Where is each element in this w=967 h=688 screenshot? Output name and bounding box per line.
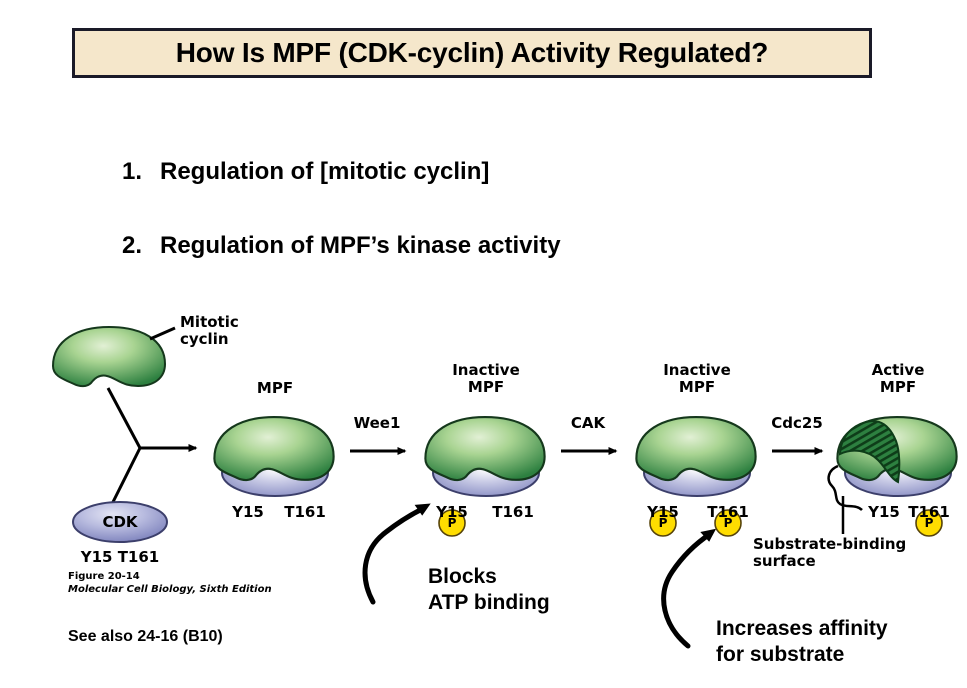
cyclin-leader-line bbox=[150, 328, 175, 339]
see-also-note: See also 24-16 (B10) bbox=[68, 628, 223, 646]
complex-2-title: Inactive MPF bbox=[452, 362, 520, 396]
enzyme-label-cdc25: Cdc25 bbox=[771, 414, 823, 432]
figure-number: Figure 20-14 bbox=[68, 570, 272, 583]
arrow-increases-affinity bbox=[664, 534, 710, 646]
phosphate-glyph-2: P bbox=[659, 516, 668, 530]
cdk-sites-label: Y15 T161 bbox=[81, 548, 160, 566]
mitotic-cyclin-shape bbox=[53, 327, 165, 386]
annotation-increases-affinity: Increases affinity for substrate bbox=[716, 616, 888, 668]
complex-4-title: Active MPF bbox=[872, 362, 925, 396]
figure-credit: Figure 20-14 Molecular Cell Biology, Six… bbox=[68, 570, 272, 596]
complex-1-title: MPF bbox=[257, 380, 293, 397]
page-title: How Is MPF (CDK-cyclin) Activity Regulat… bbox=[176, 37, 768, 69]
arrow-blocks-atp bbox=[365, 508, 424, 602]
phosphate-glyph-1: P bbox=[448, 516, 457, 530]
cdk-label: CDK bbox=[102, 513, 137, 531]
complex-3-title: Inactive MPF bbox=[663, 362, 731, 396]
bullet-text-2: Regulation of MPF’s kinase activity bbox=[160, 232, 561, 259]
mitotic-cyclin-label: Mitotic cyclin bbox=[180, 314, 239, 348]
slide-title-bar: How Is MPF (CDK-cyclin) Activity Regulat… bbox=[72, 28, 872, 78]
combine-arrow bbox=[108, 388, 196, 508]
complex-mpf-3 bbox=[636, 417, 755, 496]
complex-1-site-y15: Y15 bbox=[232, 503, 264, 521]
phosphate-glyph-4: P bbox=[925, 516, 934, 530]
phosphate-glyph-3: P bbox=[724, 516, 733, 530]
complex-4-site-y15: Y15 bbox=[868, 503, 900, 521]
figure-source: Molecular Cell Biology, Sixth Edition bbox=[68, 583, 272, 596]
complex-mpf-1 bbox=[214, 417, 333, 496]
bullet-text-1: Regulation of [mitotic cyclin] bbox=[160, 158, 489, 185]
enzyme-label-cak: CAK bbox=[571, 414, 605, 432]
complex-2-site-t161: T161 bbox=[492, 503, 534, 521]
complex-1-site-t161: T161 bbox=[284, 503, 326, 521]
bullet-number-1: 1. bbox=[122, 158, 160, 186]
enzyme-label-wee1: Wee1 bbox=[354, 414, 401, 432]
substrate-binding-surface-label: Substrate-binding surface bbox=[753, 536, 906, 570]
mpf-regulation-diagram: Mitotic cyclin CDK Y15 T161 MPF Y15 T161… bbox=[0, 296, 967, 688]
annotation-blocks-atp: Blocks ATP binding bbox=[428, 564, 550, 616]
bullet-number-2: 2. bbox=[122, 232, 160, 260]
complex-mpf-2 bbox=[425, 417, 544, 496]
bullet-item-2: 2.Regulation of MPF’s kinase activity bbox=[122, 232, 561, 260]
bullet-item-1: 1.Regulation of [mitotic cyclin] bbox=[122, 158, 489, 186]
